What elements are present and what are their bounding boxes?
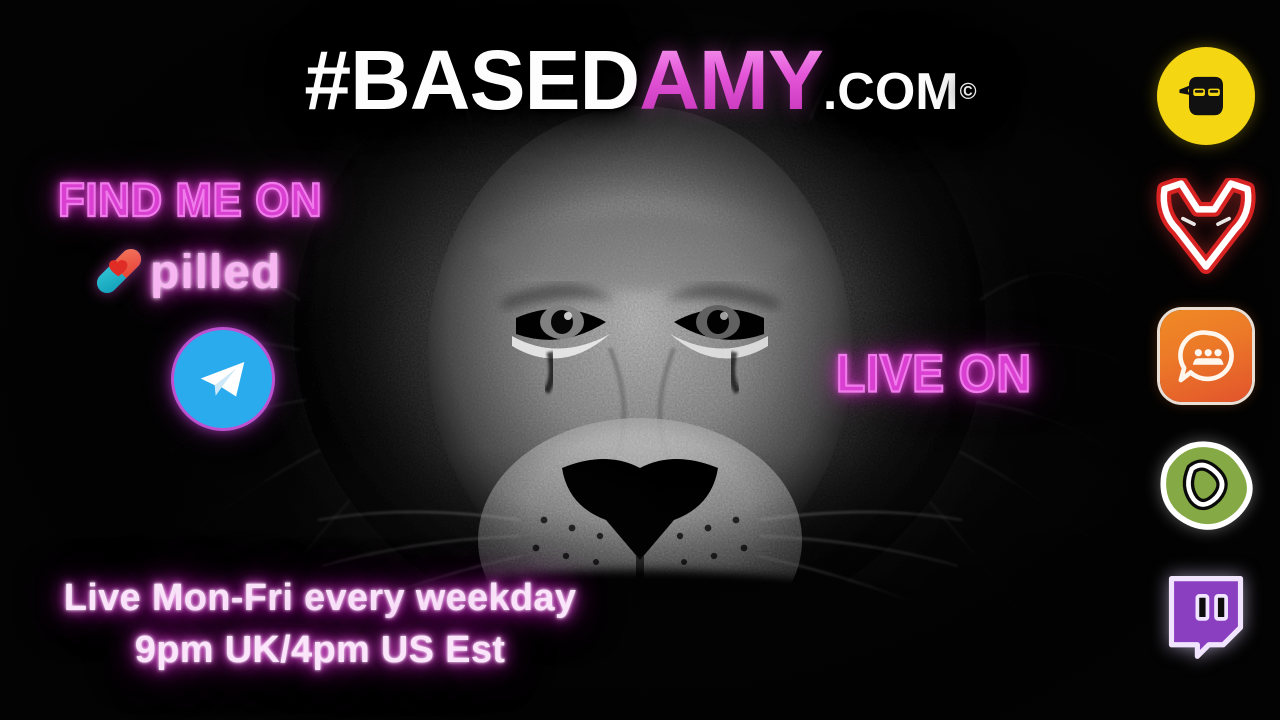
copyright-symbol: © (960, 78, 976, 104)
twitch-icon (1160, 567, 1252, 665)
social-link-foxhole[interactable] (1152, 172, 1260, 280)
site-title: #BASEDAMY.COM© (0, 34, 1280, 132)
live-on-heading: LIVE ON (836, 344, 1032, 405)
paper-plane-glyph (192, 348, 254, 410)
schedule-line-1: Live Mon-Fri every weekday (0, 572, 640, 624)
social-link-rumble[interactable] (1152, 432, 1260, 540)
title-based: #BASED (304, 33, 639, 127)
rumble-icon (1154, 436, 1258, 536)
find-me-on-heading: FIND ME ON (58, 174, 322, 228)
pill-capsule-icon (92, 244, 146, 298)
social-link-twitch[interactable] (1152, 562, 1260, 670)
pilled-link[interactable]: pilled (92, 243, 281, 298)
schedule-line-2: 9pm UK/4pm US Est (0, 624, 640, 676)
telegram-icon[interactable] (174, 330, 272, 428)
pilled-wordmark: pilled (150, 245, 281, 300)
social-link-chat[interactable] (1152, 302, 1260, 410)
stream-overlay-canvas: #BASEDAMY.COM© FIND ME ON (0, 0, 1280, 720)
fox-head-icon (1155, 178, 1257, 274)
title-amy: AMY (639, 33, 823, 127)
title-com: .COM (823, 63, 959, 121)
social-icon-rail (1146, 42, 1266, 692)
title-wrapper: #BASEDAMY.COM© (278, 34, 1001, 132)
chat-bubble-group-icon (1160, 310, 1252, 402)
schedule-block: Live Mon-Fri every weekday 9pm UK/4pm US… (0, 572, 640, 677)
